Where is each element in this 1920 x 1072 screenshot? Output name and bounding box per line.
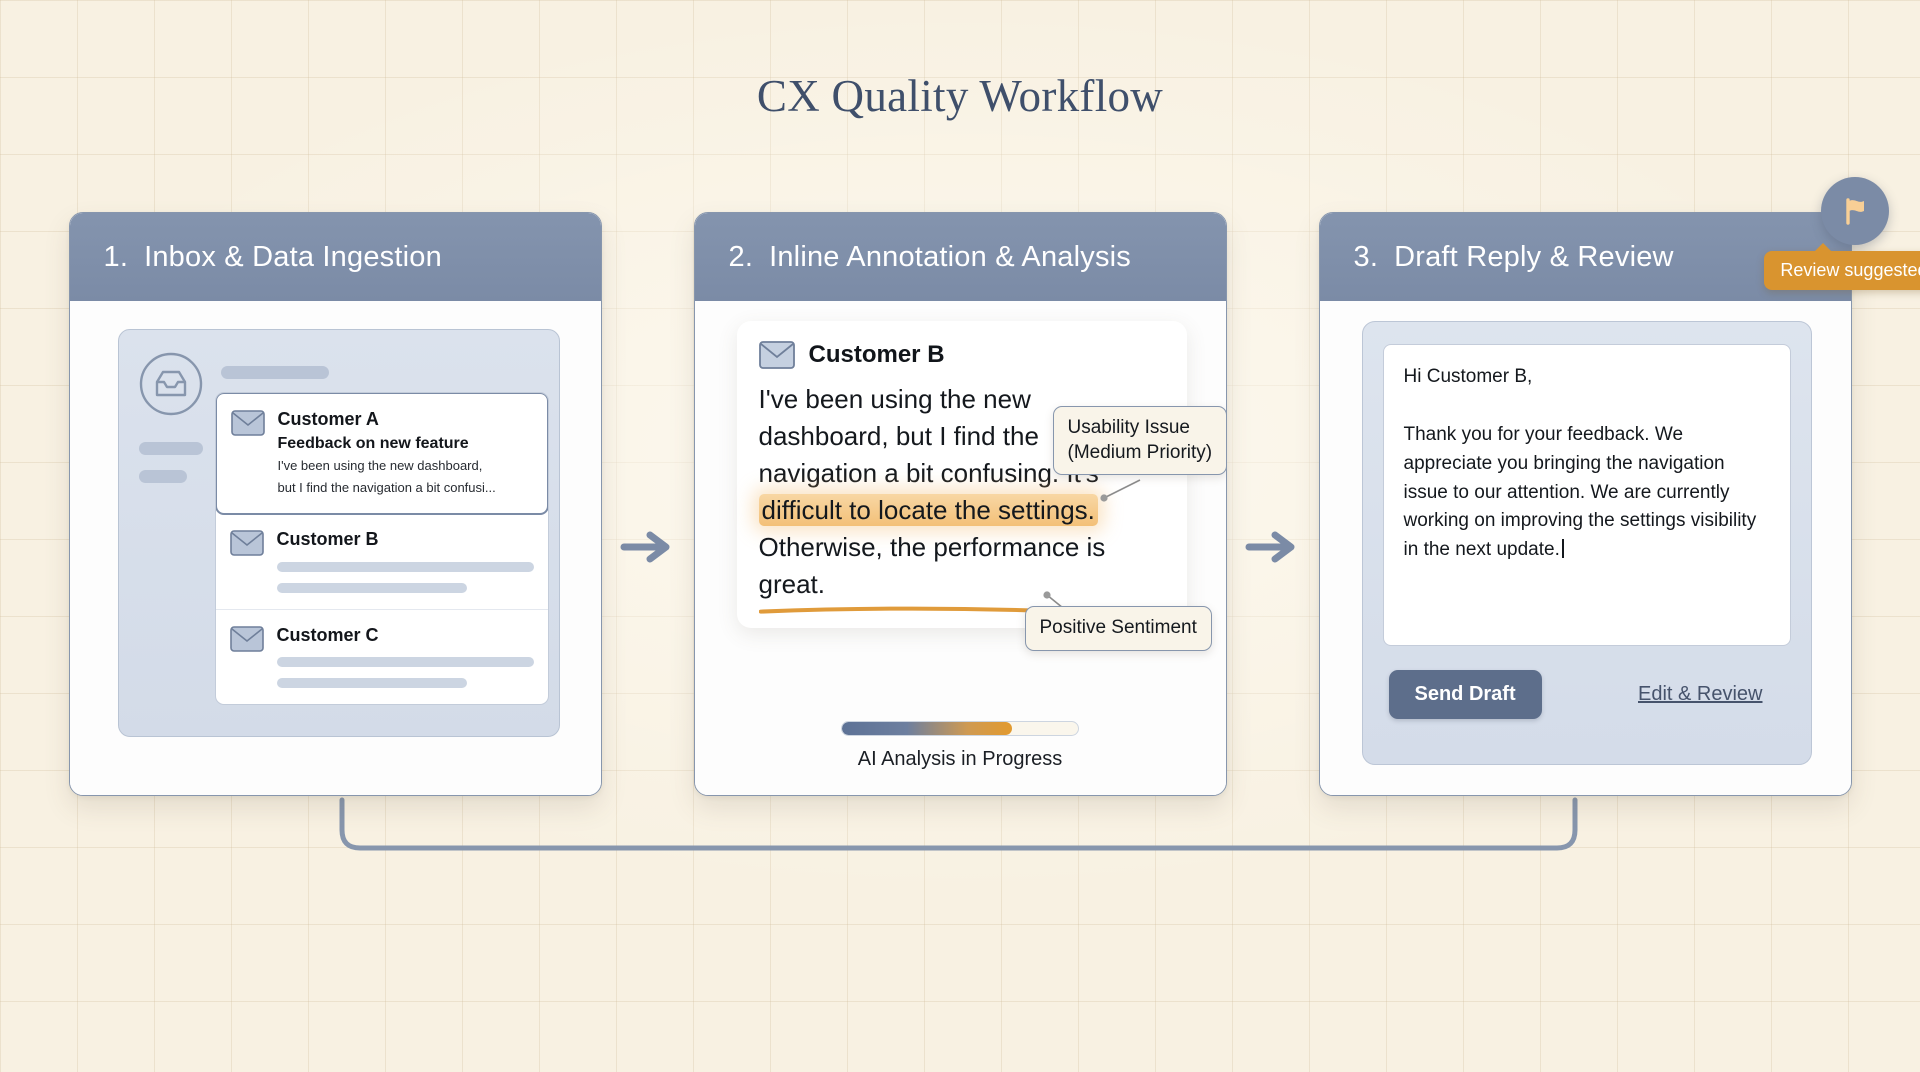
mail-preview-placeholder-1 bbox=[277, 562, 534, 572]
panel-3-step-number: 3. bbox=[1354, 241, 1379, 274]
mail-row-customer-a[interactable]: Customer A Feedback on new feature I've … bbox=[215, 392, 549, 515]
panel-inline-annotation-analysis: 2. Inline Annotation & Analysis Customer… bbox=[694, 212, 1227, 796]
highlighted-issue-span[interactable]: difficult to locate the settings. bbox=[759, 494, 1098, 526]
panel-3-title: Draft Reply & Review bbox=[1394, 241, 1674, 274]
panel-2-body: Customer B I've been using the new dashb… bbox=[695, 301, 1226, 795]
callout-sentiment-line-1: Positive Sentiment bbox=[1040, 616, 1197, 641]
panel-1-body: Customer A Feedback on new feature I've … bbox=[70, 301, 601, 795]
mail-list: Customer A Feedback on new feature I've … bbox=[215, 392, 549, 705]
review-flag-badge[interactable] bbox=[1821, 177, 1889, 245]
panel-3-body: Hi Customer B, Thank you for your feedba… bbox=[1320, 301, 1851, 795]
progress-fill bbox=[842, 722, 1012, 735]
annotated-sender-name: Customer B bbox=[809, 341, 945, 369]
draft-reply-textarea[interactable]: Hi Customer B, Thank you for your feedba… bbox=[1383, 344, 1791, 646]
mail-preview-placeholder-2 bbox=[277, 678, 467, 688]
mail-row-customer-c[interactable]: Customer C bbox=[216, 610, 548, 705]
progress-track bbox=[841, 721, 1079, 736]
message-text-after: Otherwise, the performance is great. bbox=[759, 532, 1106, 599]
envelope-icon bbox=[230, 530, 264, 556]
connector-arrow-2 bbox=[1227, 300, 1319, 794]
mail-subject: Feedback on new feature bbox=[278, 433, 533, 455]
panel-2-step-number: 2. bbox=[729, 241, 754, 274]
panel-2-header: 2. Inline Annotation & Analysis bbox=[695, 213, 1226, 301]
panel-draft-reply-review: 3. Draft Reply & Review Hi Customer B, T… bbox=[1319, 212, 1852, 796]
connector-arrow-1 bbox=[602, 300, 694, 794]
ai-analysis-progress: AI Analysis in Progress bbox=[695, 721, 1226, 771]
callout-usability-line-1: Usability Issue bbox=[1068, 416, 1213, 441]
callout-usability-line-2: (Medium Priority) bbox=[1068, 441, 1213, 466]
positive-sentiment-underline bbox=[759, 606, 1044, 614]
panel-1-step-number: 1. bbox=[104, 241, 129, 274]
mail-preview-line-2: but I find the navigation a bit confusi.… bbox=[278, 479, 533, 497]
inbox-nav-placeholder-2 bbox=[139, 470, 187, 483]
mail-sender-name: Customer A bbox=[278, 408, 533, 431]
mail-sender-name: Customer B bbox=[277, 528, 534, 551]
mail-preview-placeholder-1 bbox=[277, 657, 534, 667]
review-suggested-tooltip: Review suggested bbox=[1764, 251, 1920, 290]
panel-1-header: 1. Inbox & Data Ingestion bbox=[70, 213, 601, 301]
text-cursor bbox=[1562, 539, 1564, 558]
panel-2-title: Inline Annotation & Analysis bbox=[769, 241, 1131, 274]
page-title: CX Quality Workflow bbox=[0, 70, 1920, 122]
progress-label: AI Analysis in Progress bbox=[695, 748, 1226, 771]
envelope-icon bbox=[231, 410, 265, 436]
callout-positive-sentiment[interactable]: Positive Sentiment bbox=[1025, 606, 1212, 651]
inbox-nav-placeholder-1 bbox=[139, 442, 203, 455]
workflow-board: 1. Inbox & Data Ingestion bbox=[0, 212, 1920, 796]
draft-body-text: Hi Customer B, Thank you for your feedba… bbox=[1404, 366, 1762, 560]
draft-reply-card: Hi Customer B, Thank you for your feedba… bbox=[1362, 321, 1812, 765]
annotated-message-header: Customer B bbox=[759, 341, 1165, 369]
mail-sender-name: Customer C bbox=[277, 624, 534, 647]
draft-actions: Send Draft Edit & Review bbox=[1383, 670, 1791, 719]
inbox-window: Customer A Feedback on new feature I've … bbox=[118, 329, 560, 737]
send-draft-button[interactable]: Send Draft bbox=[1389, 670, 1542, 719]
mail-row-customer-b[interactable]: Customer B bbox=[216, 514, 548, 610]
envelope-icon bbox=[230, 626, 264, 652]
envelope-icon bbox=[759, 341, 795, 369]
panel-inbox-data-ingestion: 1. Inbox & Data Ingestion bbox=[69, 212, 602, 796]
edit-and-review-link[interactable]: Edit & Review bbox=[1638, 683, 1763, 706]
inbox-header-placeholder bbox=[221, 366, 329, 379]
mail-preview-placeholder-2 bbox=[277, 583, 467, 593]
callout-usability-issue[interactable]: Usability Issue (Medium Priority) bbox=[1053, 406, 1226, 475]
mail-preview-line-1: I've been using the new dashboard, bbox=[278, 457, 533, 475]
flag-icon bbox=[1839, 195, 1871, 227]
message-text-before: I've been using the new dashboard, but I… bbox=[759, 384, 1099, 488]
inbox-circle-icon bbox=[139, 352, 203, 416]
arrow-right-icon bbox=[1245, 530, 1301, 564]
arrow-right-icon bbox=[620, 530, 676, 564]
panel-1-title: Inbox & Data Ingestion bbox=[144, 241, 442, 274]
